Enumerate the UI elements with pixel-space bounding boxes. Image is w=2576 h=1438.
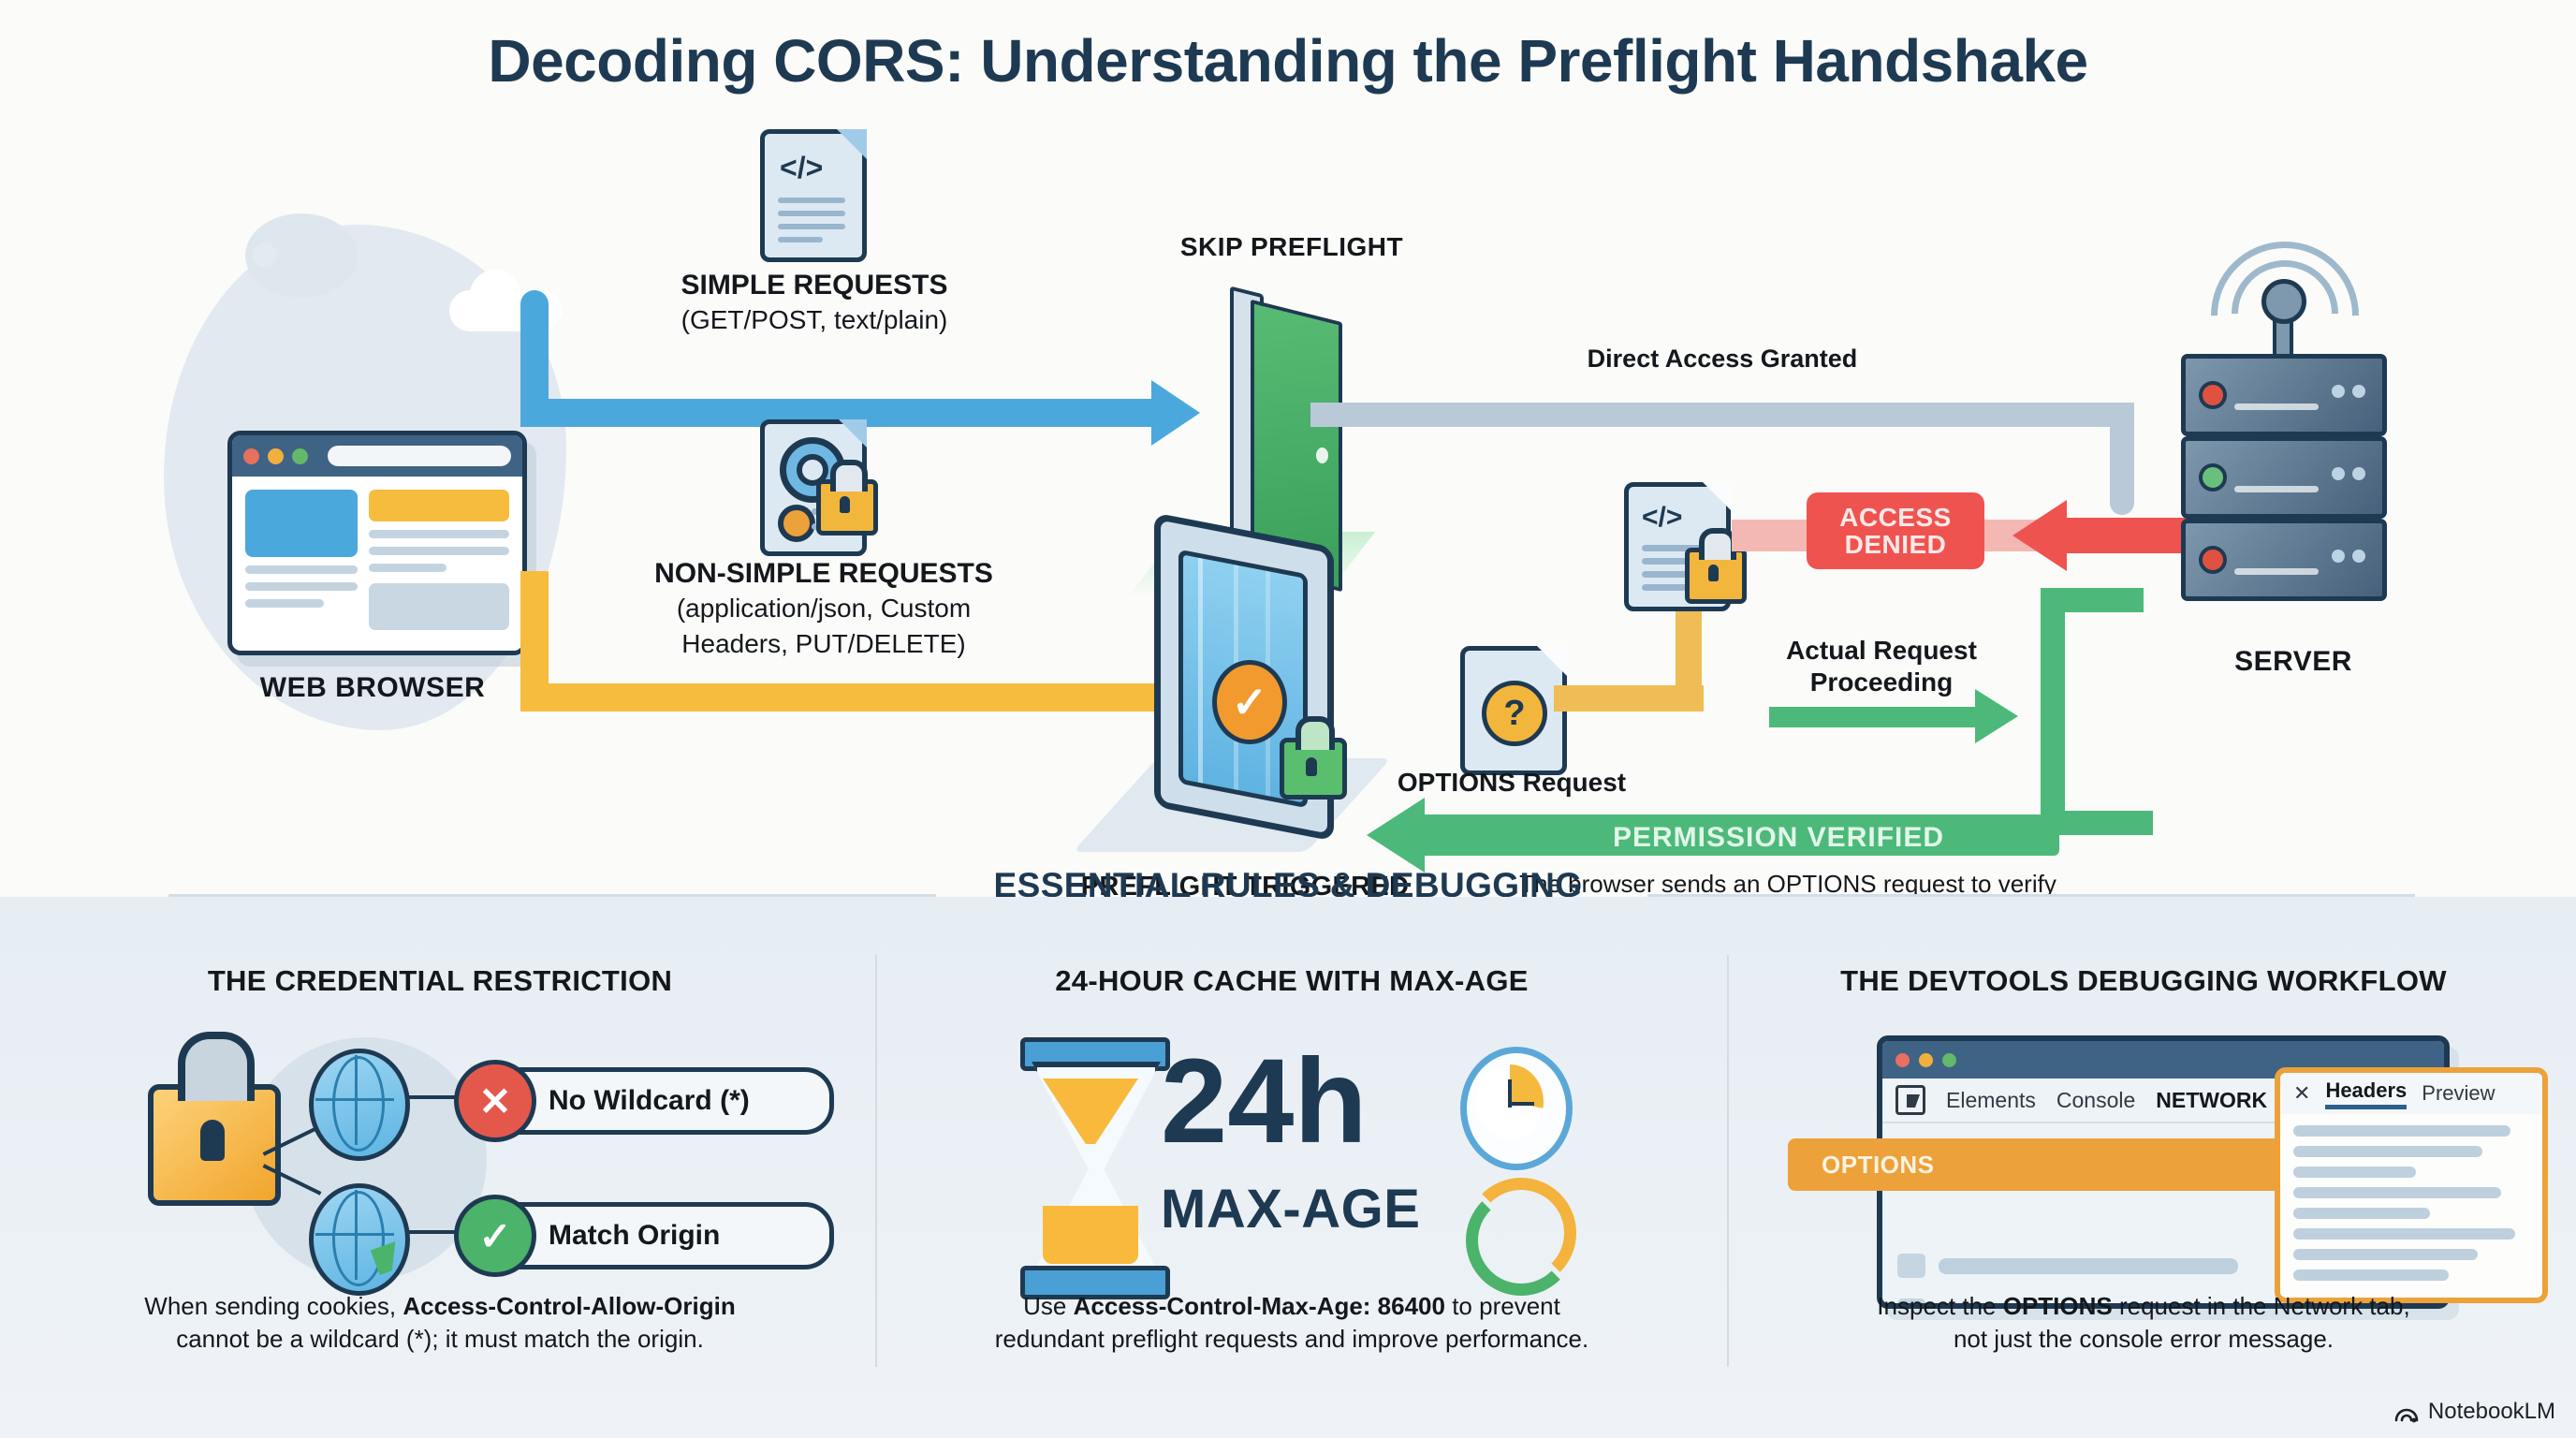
web-browser-window bbox=[227, 431, 527, 655]
watermark-label: NotebookLM bbox=[2428, 1399, 2555, 1425]
simple-requests-subtitle: (GET/POST, text/plain) bbox=[646, 305, 983, 335]
row-line bbox=[1939, 1258, 2238, 1274]
door-knob-icon bbox=[1316, 448, 1328, 463]
rack-vent bbox=[2234, 404, 2319, 410]
text-line bbox=[369, 564, 446, 572]
tab-console[interactable]: Console bbox=[2056, 1088, 2135, 1113]
panel-title: THE CREDENTIAL RESTRICTION bbox=[28, 964, 852, 998]
headers-content bbox=[2280, 1114, 2542, 1301]
rack-vent bbox=[2234, 568, 2319, 575]
panel-devtools-workflow: THE DEVTOOLS DEBUGGING WORKFLOW Elements… bbox=[1732, 897, 2555, 1438]
text-line bbox=[369, 547, 509, 555]
actual-request-line1: Actual Request bbox=[1786, 636, 1977, 665]
check-icon: ✓ bbox=[454, 1195, 536, 1277]
caption-text: Inspect the bbox=[1877, 1292, 2002, 1320]
check-circle-icon: ✓ bbox=[1212, 660, 1287, 744]
text-line bbox=[369, 530, 509, 538]
caption-bold: Access-Control-Max-Age: 86400 bbox=[1074, 1292, 1445, 1320]
access-denied-badge: ACCESS DENIED bbox=[1807, 492, 1984, 569]
max-age-unit-label: MAX-AGE bbox=[1161, 1178, 1479, 1240]
server-label: SERVER bbox=[2153, 646, 2434, 678]
page-title: Decoding CORS: Understanding the Preflig… bbox=[0, 26, 2576, 95]
headers-popup-panel: ✕ Headers Preview bbox=[2275, 1067, 2548, 1303]
simple-request-doc-icon: </> bbox=[760, 129, 867, 262]
inspect-element-icon[interactable] bbox=[1895, 1085, 1925, 1115]
access-denied-line1: ACCESS bbox=[1839, 504, 1952, 531]
caption-text-post: request in the Network tab, bbox=[2113, 1292, 2410, 1320]
rack-indicator bbox=[2352, 550, 2365, 563]
rack-indicator bbox=[2352, 467, 2365, 480]
caption-bold: OPTIONS bbox=[2003, 1292, 2113, 1320]
text-line bbox=[245, 599, 324, 608]
question-mark-icon: ? bbox=[1482, 681, 1547, 746]
popup-tabbar[interactable]: ✕ Headers Preview bbox=[2280, 1073, 2542, 1114]
browser-left-column bbox=[245, 490, 358, 630]
minimize-dot-icon bbox=[1919, 1053, 1933, 1067]
yellow-pipe-horizontal bbox=[520, 683, 1185, 712]
status-led-red bbox=[2199, 546, 2227, 574]
rack-indicator bbox=[2352, 385, 2365, 398]
small-gear-icon bbox=[778, 505, 815, 542]
maximize-dot-icon bbox=[1942, 1053, 1956, 1067]
code-glyph: </> bbox=[780, 151, 823, 185]
row-icon bbox=[1897, 1254, 1925, 1278]
green-lock-icon bbox=[1280, 738, 1347, 800]
panel-max-age-cache: 24-HOUR CACHE WITH MAX-AGE 24h MAX-AGE U… bbox=[880, 897, 1704, 1438]
panel-caption: Inspect the OPTIONS request in the Netwo… bbox=[1732, 1290, 2555, 1356]
skip-preflight-label: SKIP PREFLIGHT bbox=[1114, 232, 1470, 262]
server-rack-unit bbox=[2181, 519, 2387, 601]
refresh-arc-green bbox=[1466, 1185, 1576, 1296]
caption-text: Use bbox=[1023, 1292, 1073, 1320]
padlock-icon bbox=[148, 1084, 281, 1206]
decorative-dot bbox=[253, 243, 277, 268]
browser-content bbox=[232, 477, 522, 643]
notebooklm-watermark: NotebookLM bbox=[2393, 1399, 2555, 1425]
clock-icon bbox=[1460, 1047, 1573, 1170]
caption-bold: Access-Control-Allow-Origin bbox=[402, 1292, 735, 1320]
lock-icon bbox=[816, 479, 878, 536]
tab-elements[interactable]: Elements bbox=[1946, 1088, 2036, 1113]
close-dot-icon bbox=[1895, 1053, 1910, 1067]
permission-verified-bar-2 bbox=[1418, 814, 1493, 856]
content-block-blue bbox=[245, 490, 358, 557]
tab-network[interactable]: NETWORK bbox=[2156, 1088, 2267, 1113]
minimize-dot-icon bbox=[268, 448, 284, 464]
non-simple-requests-subtitle2: Headers, PUT/DELETE) bbox=[618, 629, 1030, 659]
notebooklm-logo-icon bbox=[2393, 1401, 2420, 1423]
status-led-red bbox=[2199, 381, 2227, 409]
panel-credential-restriction: THE CREDENTIAL RESTRICTION No Wildcard (… bbox=[28, 897, 852, 1438]
close-icon[interactable]: ✕ bbox=[2293, 1081, 2310, 1106]
hourglass-sand-bottom bbox=[1043, 1206, 1138, 1264]
non-simple-requests-title: NON-SIMPLE REQUESTS bbox=[618, 558, 1030, 590]
text-line bbox=[245, 565, 358, 574]
permission-pipe-riser bbox=[2041, 590, 2065, 835]
text-line bbox=[245, 582, 358, 591]
browser-right-column bbox=[369, 490, 509, 630]
yellow-pipe-riser bbox=[520, 571, 549, 702]
blue-arrow-head bbox=[1151, 380, 1200, 446]
panel-divider bbox=[1727, 955, 1729, 1367]
content-block-yellow bbox=[369, 490, 509, 521]
refresh-cycle-icon bbox=[1458, 1178, 1561, 1281]
browser-titlebar bbox=[232, 435, 522, 477]
browser-url-bar bbox=[328, 446, 511, 466]
permission-verified-arrow-head bbox=[1367, 798, 1425, 873]
direct-access-pipe-drop bbox=[2110, 403, 2134, 515]
preflight-portal-icon: ✓ bbox=[1109, 524, 1381, 861]
max-age-value: 24h bbox=[1161, 1047, 1479, 1157]
panel-divider bbox=[875, 955, 877, 1367]
content-block-grey bbox=[369, 583, 509, 630]
server-rack-unit bbox=[2181, 354, 2387, 436]
clock-minute-hand bbox=[1508, 1102, 1534, 1106]
hourglass-icon bbox=[1020, 1037, 1161, 1290]
actual-request-arrow-bar bbox=[1769, 707, 1984, 727]
web-browser-label: WEB BROWSER bbox=[181, 672, 564, 704]
cross-icon: ✕ bbox=[454, 1060, 536, 1142]
permission-verified-label: PERMISSION VERIFIED bbox=[1540, 822, 2017, 854]
non-simple-requests-subtitle: (application/json, Custom bbox=[618, 594, 1030, 624]
tab-headers[interactable]: Headers bbox=[2325, 1078, 2407, 1109]
actual-request-line2: Proceeding bbox=[1810, 668, 1953, 697]
panel-title: 24-HOUR CACHE WITH MAX-AGE bbox=[880, 964, 1704, 998]
maximize-dot-icon bbox=[292, 448, 308, 464]
options-request-doc-icon: ? bbox=[1460, 646, 1567, 775]
globe-icon bbox=[309, 1183, 410, 1296]
caption-line2: not just the console error message. bbox=[1954, 1325, 2334, 1353]
status-led-green bbox=[2199, 463, 2227, 492]
panel-caption: Use Access-Control-Max-Age: 86400 to pre… bbox=[880, 1290, 1704, 1356]
globe-icon bbox=[309, 1049, 410, 1161]
actual-request-arrow-head bbox=[1975, 689, 2018, 743]
options-request-row[interactable]: OPTIONS bbox=[1788, 1138, 2308, 1191]
server-rack-unit bbox=[2181, 436, 2387, 519]
flow-diagram: WEB BROWSER </> SIMPLE REQUESTS (GET/POS… bbox=[0, 122, 2576, 880]
caption-line2: redundant preflight requests and improve… bbox=[995, 1325, 1588, 1353]
padlock-icon bbox=[1685, 548, 1747, 604]
tab-preview[interactable]: Preview bbox=[2422, 1081, 2495, 1106]
caption-line2: cannot be a wildcard (*); it must match … bbox=[176, 1325, 704, 1353]
options-request-label: OPTIONS Request bbox=[1357, 768, 1666, 798]
direct-access-pipe bbox=[1310, 403, 2134, 427]
access-denied-line2: DENIED bbox=[1845, 531, 1947, 558]
simple-requests-title: SIMPLE REQUESTS bbox=[646, 270, 983, 301]
panel-caption: When sending cookies, Access-Control-All… bbox=[28, 1290, 852, 1356]
infographic-canvas: Decoding CORS: Understanding the Preflig… bbox=[0, 0, 2576, 1438]
close-dot-icon bbox=[243, 448, 259, 464]
antenna-tip-icon bbox=[2261, 279, 2306, 324]
panel-title: THE DEVTOOLS DEBUGGING WORKFLOW bbox=[1732, 964, 2555, 998]
caption-text: When sending cookies, bbox=[144, 1292, 402, 1320]
direct-access-granted-label: Direct Access Granted bbox=[1526, 345, 1919, 374]
rack-vent bbox=[2234, 486, 2319, 492]
code-glyph: </> bbox=[1642, 502, 1682, 534]
denied-arrow-head bbox=[2012, 500, 2067, 571]
server-icon bbox=[2153, 300, 2434, 637]
caption-text-post: to prevent bbox=[1445, 1292, 1560, 1320]
